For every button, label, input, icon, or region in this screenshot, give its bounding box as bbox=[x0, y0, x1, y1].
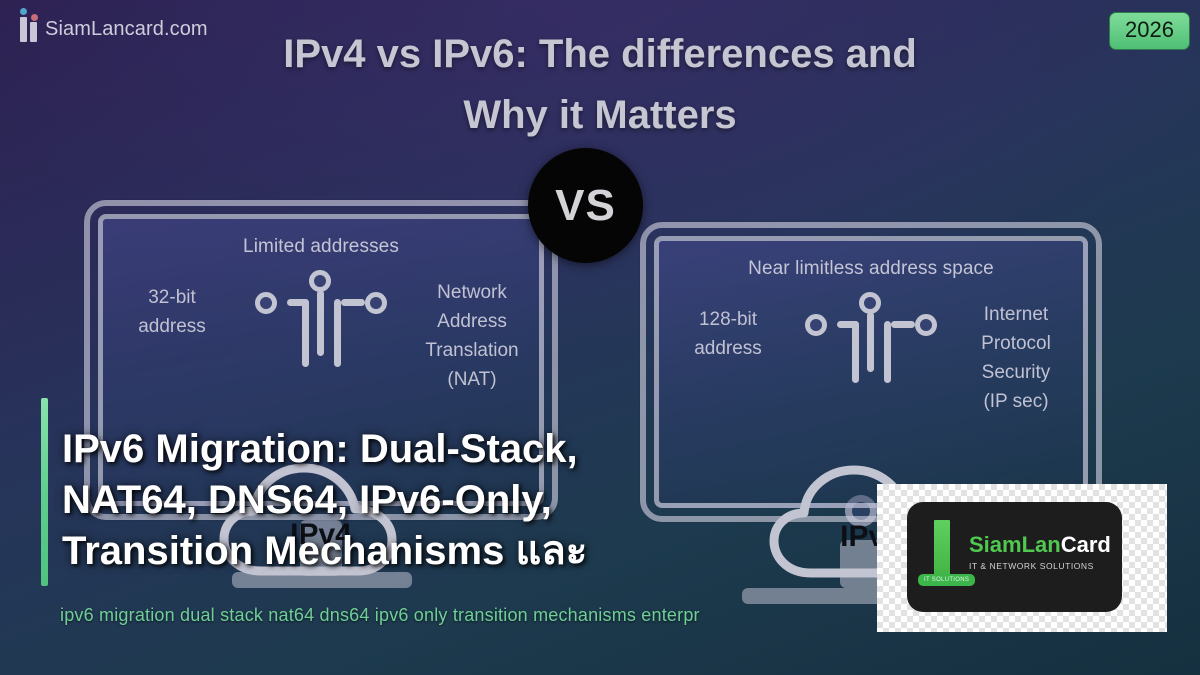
card-brand-white: Card bbox=[1061, 532, 1111, 557]
ipv4-left-caption-l2: address bbox=[112, 313, 232, 342]
ipv6-top-caption: Near limitless address space bbox=[662, 258, 1080, 280]
node-dot-left bbox=[255, 292, 277, 314]
node-link-b bbox=[302, 299, 309, 367]
business-card: IT SOLUTIONS SiamLanCard IT & NETWORK SO… bbox=[907, 502, 1122, 612]
ipv4-left-caption: 32-bit address bbox=[112, 284, 232, 342]
card-tagline: IT & NETWORK SOLUTIONS bbox=[969, 561, 1111, 571]
ipv6-right-caption-l1: Internet bbox=[956, 301, 1076, 330]
ipv6-left-caption-l2: address bbox=[668, 335, 788, 364]
logo-dot-blue bbox=[20, 8, 27, 15]
ipv6-right-caption-l3: Security bbox=[956, 359, 1076, 388]
ipv4-right-caption-l3: Translation bbox=[412, 337, 532, 366]
ipv4-right-caption: Network Address Translation (NAT) bbox=[412, 279, 532, 395]
card-text-block: SiamLanCard IT & NETWORK SOLUTIONS bbox=[969, 534, 1111, 571]
node-dot-right bbox=[365, 292, 387, 314]
ipv6-left-caption: 128-bit address bbox=[668, 306, 788, 364]
overlay-headline: IPv6 Migration: Dual-Stack, NAT64, DNS64… bbox=[62, 424, 822, 578]
headline-line-3: Transition Mechanisms และ bbox=[62, 526, 822, 577]
ipv4-network-nodes-icon bbox=[231, 274, 411, 404]
ipv6-right-caption: Internet Protocol Security (IP sec) bbox=[956, 301, 1076, 417]
node-link-b bbox=[852, 321, 859, 383]
vs-badge: VS bbox=[528, 148, 643, 263]
node-link-d bbox=[341, 299, 365, 306]
headline-line-1: IPv6 Migration: Dual-Stack, bbox=[62, 424, 822, 475]
ipv6-network-nodes-icon bbox=[781, 296, 961, 426]
headline-accent-bar bbox=[41, 398, 48, 586]
node-link-e bbox=[884, 321, 891, 383]
node-link-c bbox=[867, 312, 874, 372]
ipv4-right-caption-l2: Address bbox=[412, 308, 532, 337]
year-badge: 2026 bbox=[1109, 12, 1190, 50]
node-dot-right bbox=[915, 314, 937, 336]
ipv4-right-caption-l1: Network bbox=[412, 279, 532, 308]
vs-label: VS bbox=[555, 181, 616, 231]
node-dot-center bbox=[309, 270, 331, 292]
node-dot-center bbox=[859, 292, 881, 314]
ipv6-right-caption-l4: (IP sec) bbox=[956, 388, 1076, 417]
node-link-e bbox=[334, 299, 341, 367]
ipv4-top-caption: Limited addresses bbox=[106, 236, 536, 258]
page-title: IPv4 vs IPv6: The differences and Why it… bbox=[0, 24, 1200, 146]
watermark-text: SiamLancard.com bbox=[45, 19, 208, 42]
card-it-solutions-pill: IT SOLUTIONS bbox=[918, 574, 975, 586]
card-brand: SiamLanCard bbox=[969, 534, 1111, 556]
headline-line-2: NAT64, DNS64, IPv6-Only, bbox=[62, 475, 822, 526]
business-card-overlay: IT SOLUTIONS SiamLanCard IT & NETWORK SO… bbox=[877, 484, 1167, 632]
siamlancard-logo-icon bbox=[18, 8, 44, 42]
ipv4-left-caption-l1: 32-bit bbox=[112, 284, 232, 313]
logo-dot-red bbox=[31, 14, 38, 21]
ipv6-left-caption-l1: 128-bit bbox=[668, 306, 788, 335]
ipv6-right-caption-l2: Protocol bbox=[956, 330, 1076, 359]
node-dot-left bbox=[805, 314, 827, 336]
card-brand-green: SiamLan bbox=[969, 532, 1061, 557]
logo-bar-left bbox=[20, 17, 27, 42]
infographic-canvas: SiamLancard.com 2026 IPv4 vs IPv6: The d… bbox=[0, 0, 1200, 675]
keyword-tags: ipv6 migration dual stack nat64 dns64 ip… bbox=[60, 605, 940, 626]
node-link-c bbox=[317, 290, 324, 356]
watermark-brand: SiamLancard.com bbox=[18, 8, 208, 42]
logo-bar-right bbox=[30, 22, 37, 42]
node-link-d bbox=[891, 321, 915, 328]
ipv4-right-caption-l4: (NAT) bbox=[412, 366, 532, 395]
title-line-2: Why it Matters bbox=[0, 85, 1200, 146]
